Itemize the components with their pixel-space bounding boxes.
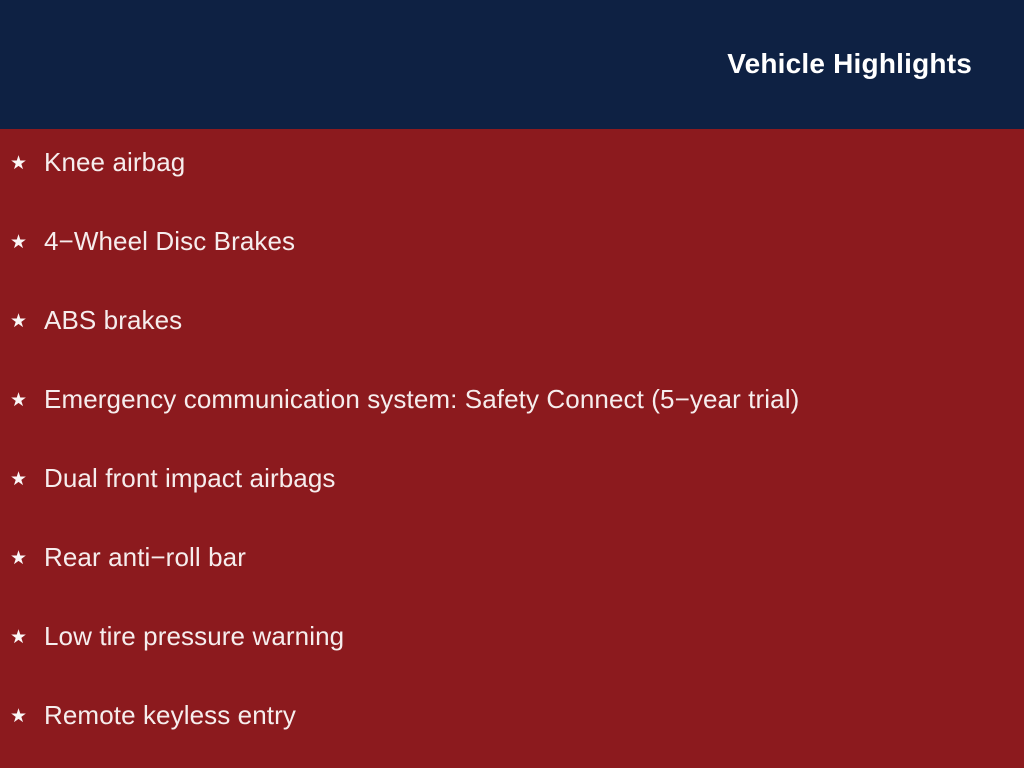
star-bullet-icon: ★: [10, 228, 44, 258]
list-item: ★Low tire pressure warning: [10, 621, 344, 655]
star-bullet-icon: ★: [10, 386, 44, 416]
highlights-body: ★Knee airbag★4−Wheel Disc Brakes★ABS bra…: [0, 129, 1024, 768]
list-item-label: Low tire pressure warning: [44, 621, 344, 651]
list-item-label: Rear anti−roll bar: [44, 542, 246, 572]
list-item: ★4−Wheel Disc Brakes: [10, 226, 295, 260]
header-band: Vehicle Highlights: [0, 0, 1024, 129]
list-item: ★ABS brakes: [10, 305, 182, 339]
list-item-label: 4−Wheel Disc Brakes: [44, 226, 295, 256]
page-title: Vehicle Highlights: [727, 47, 972, 81]
list-item-label: Knee airbag: [44, 147, 185, 177]
star-bullet-icon: ★: [10, 702, 44, 732]
star-bullet-icon: ★: [10, 307, 44, 337]
list-item-label: Emergency communication system: Safety C…: [44, 384, 799, 414]
vehicle-highlights-slide: Vehicle Highlights ★Knee airbag★4−Wheel …: [0, 0, 1024, 768]
list-item: ★Rear anti−roll bar: [10, 542, 246, 576]
list-item: ★Knee airbag: [10, 147, 185, 181]
list-item: ★Dual front impact airbags: [10, 463, 336, 497]
list-item: ★Remote keyless entry: [10, 700, 296, 734]
list-item: ★Emergency communication system: Safety …: [10, 384, 799, 418]
star-bullet-icon: ★: [10, 465, 44, 495]
star-bullet-icon: ★: [10, 623, 44, 653]
list-item-label: Dual front impact airbags: [44, 463, 336, 493]
list-item-label: ABS brakes: [44, 305, 182, 335]
star-bullet-icon: ★: [10, 544, 44, 574]
star-bullet-icon: ★: [10, 149, 44, 179]
list-item-label: Remote keyless entry: [44, 700, 296, 730]
